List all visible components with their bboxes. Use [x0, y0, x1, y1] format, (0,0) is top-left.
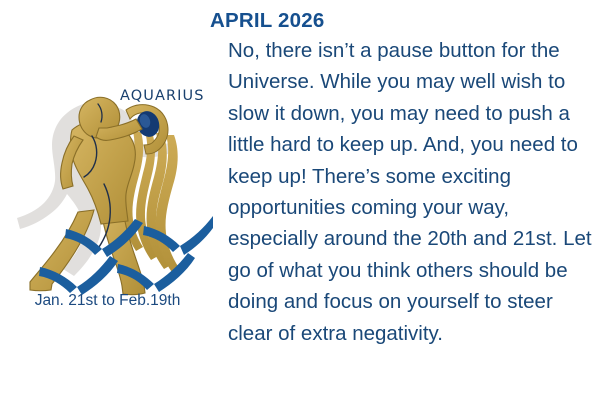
- zodiac-sign-name: AQUARIUS: [120, 88, 205, 104]
- zodiac-date-range: Jan. 21st to Feb.19th: [0, 292, 215, 310]
- horoscope-card: AQUARIUS Jan. 21st to Feb.19th APRIL 202…: [0, 0, 600, 400]
- horoscope-reading: APRIL 2026 No, there isn’t a pause butto…: [210, 8, 598, 349]
- aquarius-water-bearer-icon: [8, 92, 213, 297]
- reading-title: APRIL 2026: [210, 8, 598, 34]
- zodiac-sign-panel: AQUARIUS Jan. 21st to Feb.19th: [0, 0, 215, 400]
- reading-body-text: No, there isn’t a pause button for the U…: [210, 35, 598, 349]
